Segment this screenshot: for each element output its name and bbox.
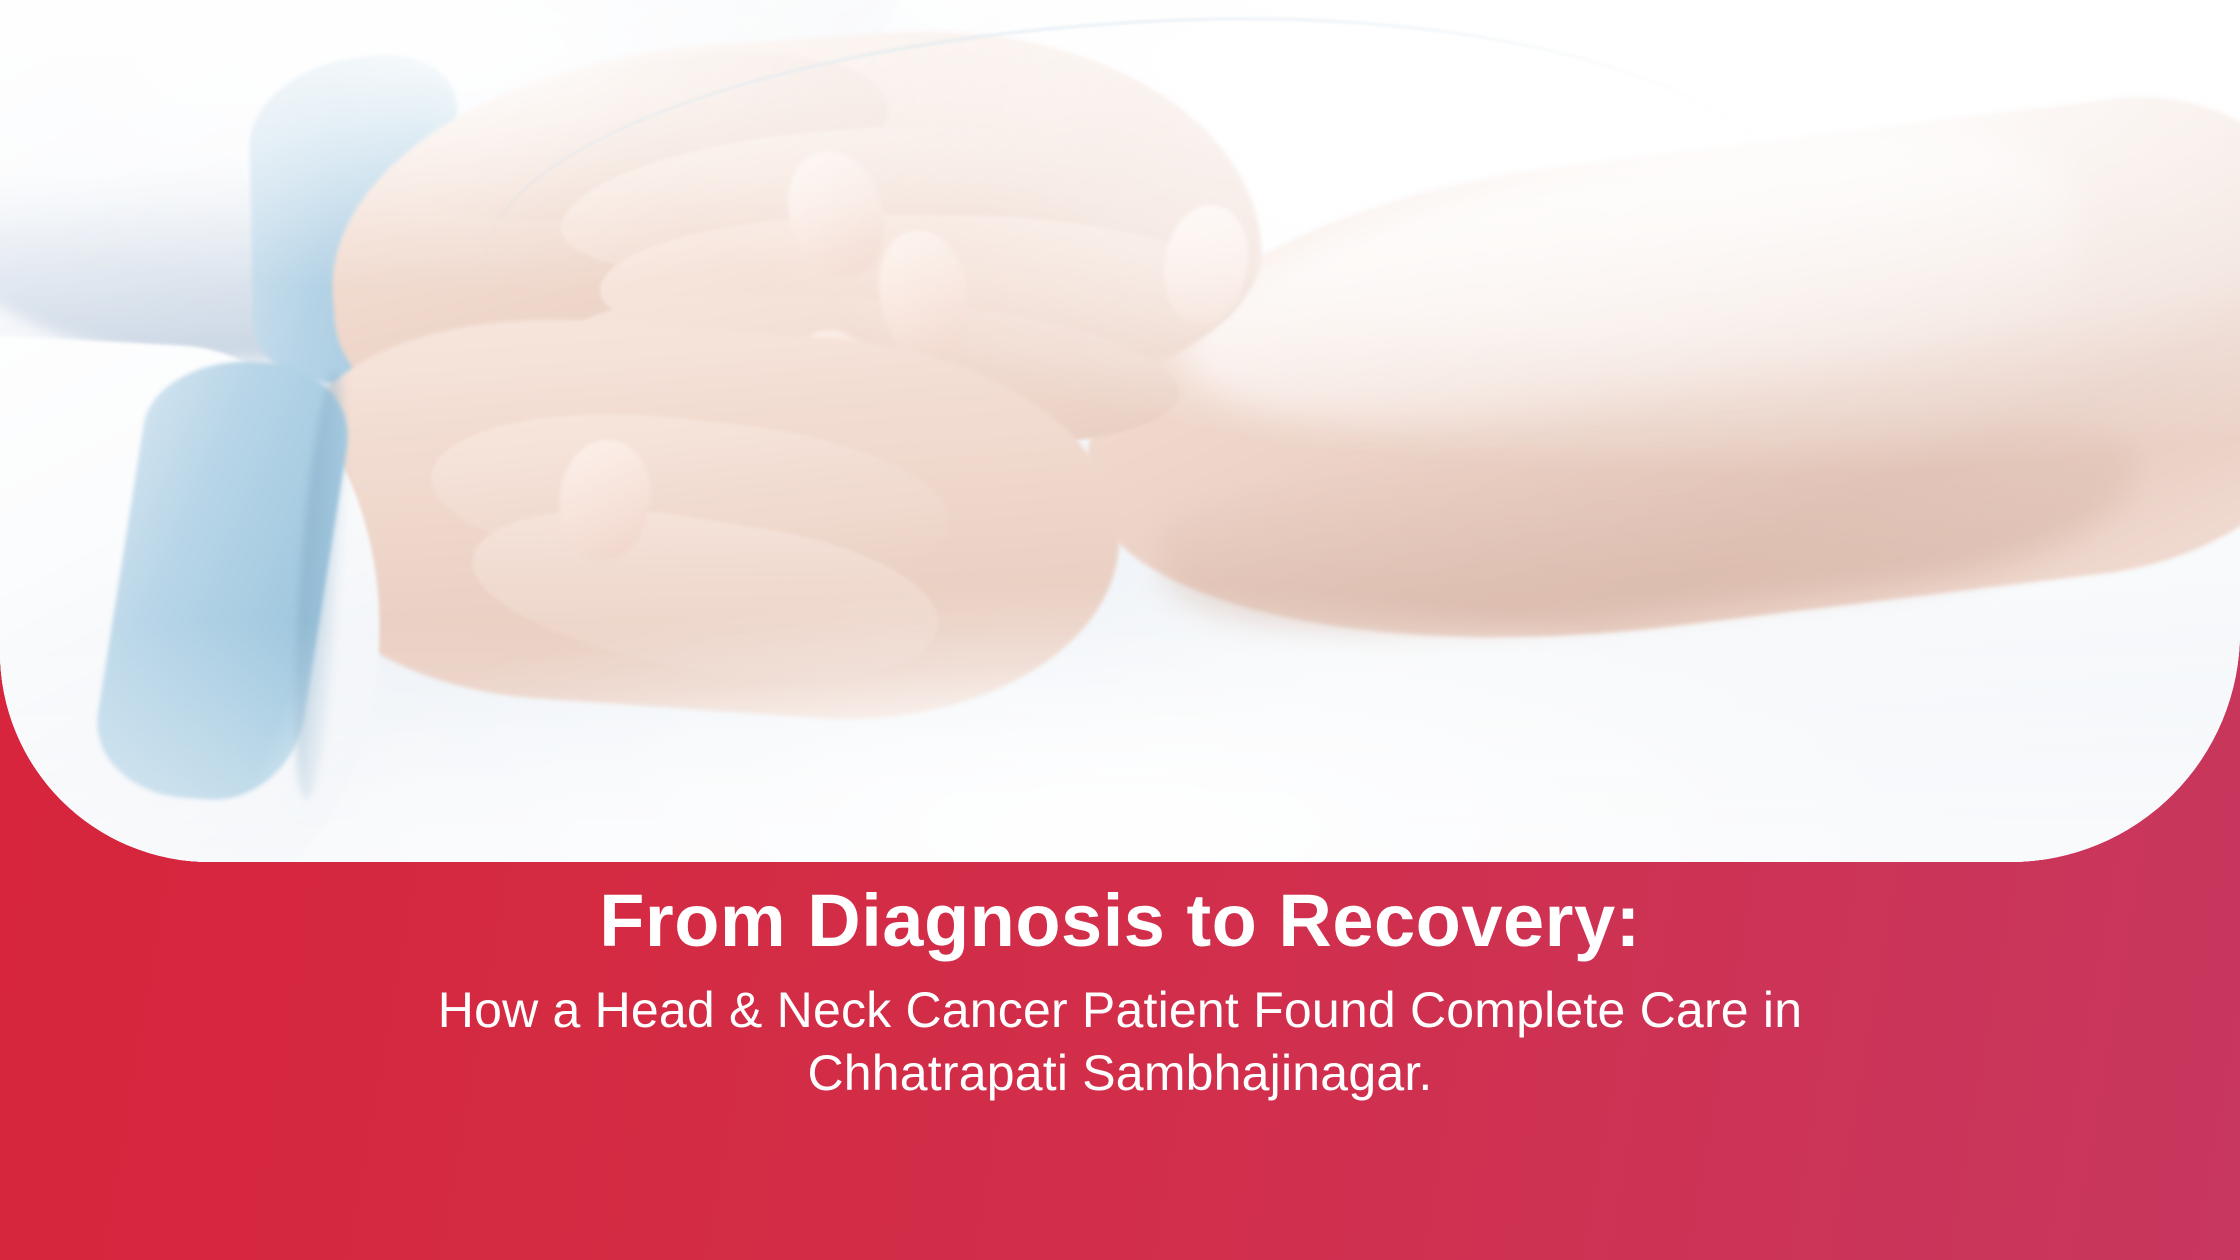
banner-subtitle-line-2: Chhatrapati Sambhajinagar. xyxy=(807,1045,1432,1101)
article-banner: From Diagnosis to Recovery: How a Head &… xyxy=(0,0,2240,1260)
hero-photo-panel xyxy=(0,0,2240,862)
doctor-patient-hands-photo xyxy=(0,0,2240,862)
banner-title: From Diagnosis to Recovery: xyxy=(180,880,2060,963)
photo-vignette xyxy=(0,0,2240,862)
banner-subtitle: How a Head & Neck Cancer Patient Found C… xyxy=(180,979,2060,1105)
banner-subtitle-line-1: How a Head & Neck Cancer Patient Found C… xyxy=(438,982,1802,1038)
banner-caption: From Diagnosis to Recovery: How a Head &… xyxy=(0,880,2240,1105)
